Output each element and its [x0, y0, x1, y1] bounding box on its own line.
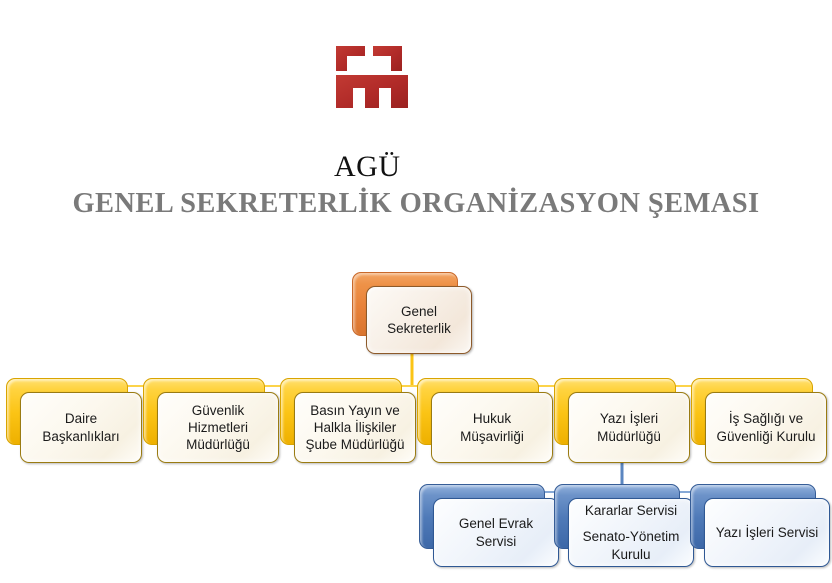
node-label: Yazı İşleri Servisi	[716, 524, 819, 541]
agu-logo-icon	[334, 44, 410, 110]
node-label: Yazı İşleri Müdürlüğü	[597, 410, 661, 445]
org-node-daire-baskanliklari[interactable]: Daire Başkanlıkları	[6, 378, 142, 463]
node-label: Hukuk Müşavirliği	[460, 410, 524, 445]
node-face: Güvenlik Hizmetleri Müdürlüğü	[157, 392, 279, 463]
org-node-yazi-isleri-servisi[interactable]: Yazı İşleri Servisi	[690, 484, 830, 567]
node-label: Genel Sekreterlik	[387, 303, 451, 338]
page-title: GENEL SEKRETERLİK ORGANİZASYON ŞEMASI	[0, 188, 832, 220]
node-face: Kararlar ServisiSenato-Yönetim Kurulu	[568, 498, 694, 567]
node-face: Yazı İşleri Müdürlüğü	[568, 392, 690, 463]
org-node-genel-evrak-servisi[interactable]: Genel Evrak Servisi	[419, 484, 559, 567]
node-face: Genel Evrak Servisi	[433, 498, 559, 567]
org-node-is-sagligi-guvenligi-kurulu[interactable]: İş Sağlığı ve Güvenliği Kurulu	[691, 378, 827, 463]
node-face: Yazı İşleri Servisi	[704, 498, 830, 567]
agu-wordmark: AGÜ	[334, 152, 422, 182]
org-node-hukuk-musavirligi[interactable]: Hukuk Müşavirliği	[417, 378, 553, 463]
node-face: Genel Sekreterlik	[366, 286, 472, 354]
node-face: Daire Başkanlıkları	[20, 392, 142, 463]
org-node-guvenlik-hizmetleri-mudurlugu[interactable]: Güvenlik Hizmetleri Müdürlüğü	[143, 378, 279, 463]
logo-block: AGÜ	[334, 44, 420, 152]
node-label: İş Sağlığı ve Güvenliği Kurulu	[716, 410, 815, 445]
node-label: Daire Başkanlıkları	[42, 410, 119, 445]
node-label: Genel Evrak Servisi	[459, 515, 533, 550]
node-face: Basın Yayın ve Halkla İlişkiler Şube Müd…	[294, 392, 416, 463]
org-node-genel-sekreterlik[interactable]: Genel Sekreterlik	[352, 272, 472, 354]
node-face: İş Sağlığı ve Güvenliği Kurulu	[705, 392, 827, 463]
org-node-basin-yayin-halkla-iliskiler[interactable]: Basın Yayın ve Halkla İlişkiler Şube Müd…	[280, 378, 416, 463]
org-node-yazi-isleri-mudurlugu[interactable]: Yazı İşleri Müdürlüğü	[554, 378, 690, 463]
node-label: Kararlar Servisi	[585, 503, 677, 518]
node-label: Güvenlik Hizmetleri Müdürlüğü	[186, 402, 250, 454]
org-node-kararlar-servisi[interactable]: Kararlar ServisiSenato-Yönetim Kurulu	[554, 484, 694, 567]
node-face: Hukuk Müşavirliği	[431, 392, 553, 463]
node-sublabel: Senato-Yönetim Kurulu	[583, 528, 680, 563]
node-label-group: Kararlar ServisiSenato-Yönetim Kurulu	[583, 502, 680, 564]
node-label: Basın Yayın ve Halkla İlişkiler Şube Müd…	[305, 402, 404, 454]
